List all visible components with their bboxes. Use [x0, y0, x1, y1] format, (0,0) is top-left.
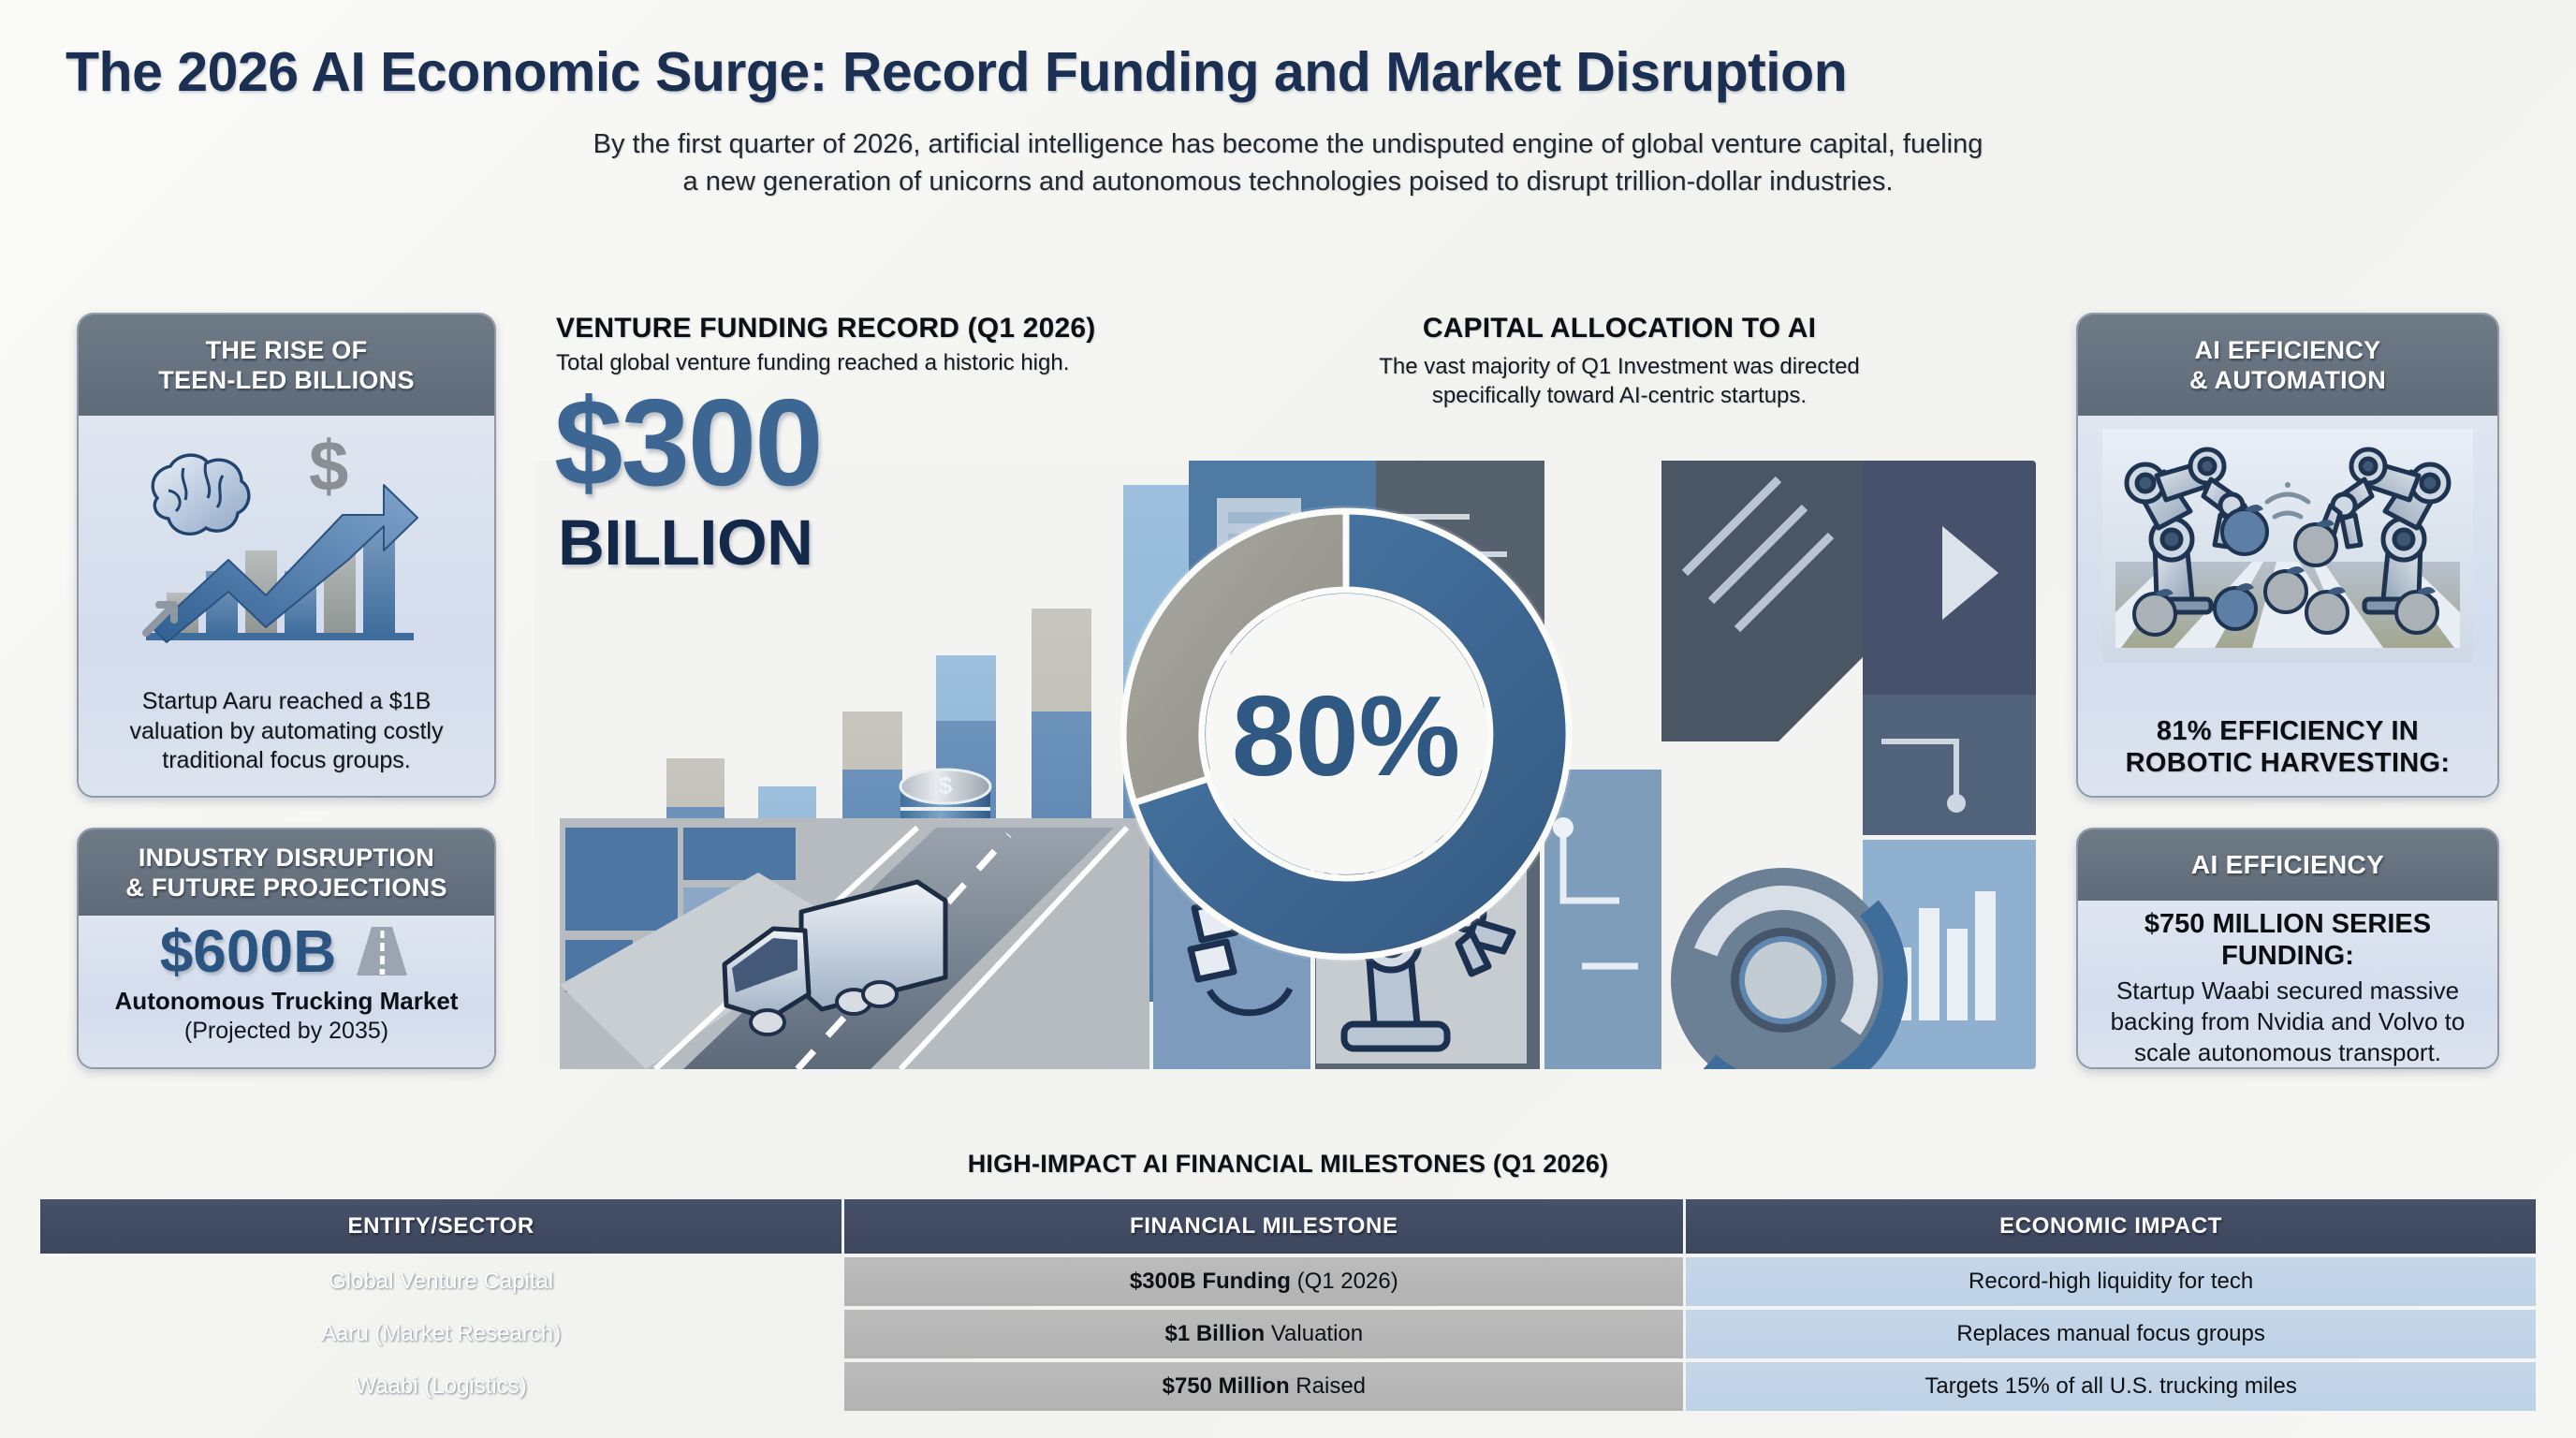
capital-allocation-heading: CAPITAL ALLOCATION TO AI: [1245, 313, 1994, 345]
disrupt-value-row: $600B: [160, 921, 414, 981]
center-visual-panel: VENTURE FUNDING RECORD (Q1 2026) Total g…: [534, 313, 2036, 1069]
cell-milestone: $750 Million Raised: [844, 1362, 1683, 1411]
hero-funding-unit: BILLION: [558, 506, 812, 580]
column-header-impact: ECONOMIC IMPACT: [1686, 1199, 2536, 1254]
page-title: The 2026 AI Economic Surge: Record Fundi…: [66, 43, 2510, 103]
disrupt-value-note: (Projected by 2035): [184, 1018, 388, 1045]
cell-milestone: $300B Funding (Q1 2026): [844, 1257, 1683, 1306]
card-eff-header-line-1: AI EFFICIENCY: [2191, 849, 2384, 881]
card-disrupt-header-line-2: & FUTURE PROJECTIONS: [125, 873, 447, 902]
venture-funding-subheading: Total global venture funding reached a h…: [556, 350, 1267, 376]
capital-allocation-heading-block: CAPITAL ALLOCATION TO AI The vast majori…: [1245, 313, 1994, 410]
road-icon: [351, 921, 413, 981]
card-rise-header: THE RISE OF TEEN-LED BILLIONS: [79, 315, 494, 416]
card-auto-header-line-1: AI EFFICIENCY: [2189, 335, 2386, 365]
card-eff-body: $750 MILLION SERIES FUNDING: Startup Waa…: [2078, 901, 2497, 1067]
page-header: The 2026 AI Economic Surge: Record Fundi…: [0, 0, 2576, 200]
cell-entity: Waabi (Logistics): [40, 1362, 842, 1411]
cell-impact: Record-high liquidity for tech: [1686, 1257, 2536, 1306]
hero-funding-number: $300: [554, 386, 822, 499]
card-auto-caption-line-1: 81% EFFICIENCY IN: [2126, 715, 2451, 747]
card-auto-caption-line-2: ROBOTIC HARVESTING:: [2126, 747, 2451, 779]
capital-allocation-sub-line-2: specifically toward AI-centric startups.: [1245, 381, 1994, 410]
table-row: Waabi (Logistics)$750 Million RaisedTarg…: [40, 1362, 2536, 1411]
table-body: Global Venture Capital$300B Funding (Q1 …: [40, 1257, 2536, 1411]
card-eff-value-line-2: FUNDING:: [2221, 940, 2354, 972]
table-header-row: ENTITY/SECTOR FINANCIAL MILESTONE ECONOM…: [40, 1199, 2536, 1254]
capital-allocation-sub-line-1: The vast majority of Q1 Investment was d…: [1245, 352, 1994, 381]
subtitle-line-2: a new generation of unicorns and autonom…: [234, 163, 2342, 200]
page-subtitle: By the first quarter of 2026, artificial…: [66, 125, 2510, 200]
cell-impact: Replaces manual focus groups: [1686, 1310, 2536, 1358]
milestones-title: HIGH-IMPACT AI FINANCIAL MILESTONES (Q1 …: [0, 1150, 2576, 1179]
cell-impact: Targets 15% of all U.S. trucking miles: [1686, 1362, 2536, 1411]
donut-center-label: 80%: [1232, 672, 1460, 800]
card-rise-header-line-2: TEEN-LED BILLIONS: [158, 365, 415, 395]
svg-text:$: $: [309, 429, 348, 506]
card-auto-header-line-2: & AUTOMATION: [2189, 365, 2386, 395]
card-rise-caption: Startup Aaru reached a $1B valuation by …: [94, 687, 479, 775]
table-row: Aaru (Market Research)$1 Billion Valuati…: [40, 1310, 2536, 1358]
table-row: Global Venture Capital$300B Funding (Q1 …: [40, 1257, 2536, 1306]
card-eff-value-line-1: $750 MILLION SERIES: [2144, 908, 2431, 940]
card-rise-body: $ Startup Aaru reached a $1B valuation b…: [79, 416, 494, 796]
cell-entity: Global Venture Capital: [40, 1257, 842, 1306]
disrupt-value-label: Autonomous Trucking Market: [115, 987, 459, 1016]
venture-funding-heading: VENTURE FUNDING RECORD (Q1 2026): [556, 313, 1267, 345]
card-rise-of-teen-led-billions[interactable]: THE RISE OF TEEN-LED BILLIONS: [77, 313, 496, 798]
card-eff-header: AI EFFICIENCY: [2078, 829, 2497, 901]
card-auto-header: AI EFFICIENCY & AUTOMATION: [2078, 315, 2497, 416]
cell-milestone-amount: $750 Million: [1163, 1373, 1290, 1399]
cell-milestone-detail: Valuation: [1265, 1321, 1363, 1346]
robotic-harvesting-icon: [2102, 429, 2473, 663]
column-header-milestone: FINANCIAL MILESTONE: [844, 1199, 1683, 1254]
column-header-entity: ENTITY/SECTOR: [40, 1199, 842, 1254]
subtitle-line-1: By the first quarter of 2026, artificial…: [234, 125, 2342, 163]
card-rise-header-line-1: THE RISE OF: [158, 335, 415, 365]
cell-milestone-detail: Raised: [1290, 1373, 1366, 1399]
cell-milestone-amount: $300B Funding: [1130, 1269, 1291, 1294]
cell-milestone-detail: (Q1 2026): [1291, 1269, 1398, 1294]
card-industry-disruption[interactable]: INDUSTRY DISRUPTION & FUTURE PROJECTIONS…: [77, 828, 496, 1069]
card-disrupt-header: INDUSTRY DISRUPTION & FUTURE PROJECTIONS: [79, 829, 494, 916]
milestones-table: ENTITY/SECTOR FINANCIAL MILESTONE ECONOM…: [37, 1196, 2539, 1415]
cell-milestone: $1 Billion Valuation: [844, 1310, 1683, 1358]
svg-text:$: $: [939, 771, 953, 800]
disrupt-value: $600B: [160, 921, 337, 981]
infographic-body: THE RISE OF TEEN-LED BILLIONS: [0, 301, 2576, 1125]
card-eff-caption: Startup Waabi secured massive backing fr…: [2093, 976, 2482, 1067]
venture-funding-heading-block: VENTURE FUNDING RECORD (Q1 2026) Total g…: [556, 313, 1267, 376]
cell-entity: Aaru (Market Research): [40, 1310, 842, 1358]
card-disrupt-body: $600B Autonomous Trucking Market (Projec…: [79, 916, 494, 1067]
card-auto-caption: 81% EFFICIENCY IN ROBOTIC HARVESTING:: [2126, 715, 2451, 779]
cell-milestone-amount: $1 Billion: [1164, 1321, 1265, 1346]
brain-growth-chart-icon: $: [109, 429, 464, 661]
card-disrupt-header-line-1: INDUSTRY DISRUPTION: [125, 843, 447, 873]
card-auto-body: 81% EFFICIENCY IN ROBOTIC HARVESTING:: [2078, 416, 2497, 796]
card-ai-efficiency-funding[interactable]: AI EFFICIENCY $750 MILLION SERIES FUNDIN…: [2076, 828, 2499, 1069]
capital-allocation-donut: 80%: [1118, 506, 1574, 962]
milestones-section: HIGH-IMPACT AI FINANCIAL MILESTONES (Q1 …: [0, 1150, 2576, 1415]
card-ai-efficiency-automation[interactable]: AI EFFICIENCY & AUTOMATION: [2076, 313, 2499, 798]
